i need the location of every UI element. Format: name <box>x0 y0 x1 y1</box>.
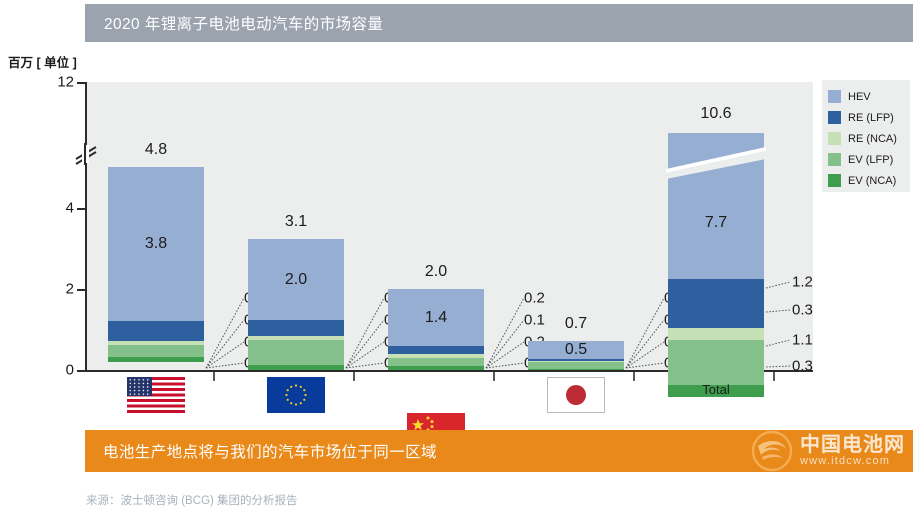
bar-eu-segment-ev-lfp <box>248 340 344 365</box>
us-flag-icon <box>127 377 185 413</box>
chart-page: 2020 年锂离子电池电动汽车的市场容量 百万 [ 单位 ] 12 4 2 0 <box>0 0 913 516</box>
bar-japan-segment-hev: 0.5 <box>528 341 624 359</box>
bar-total-segment-hev: 7.7 <box>668 133 764 279</box>
bar-eu-segment-hev: 2.0 <box>248 239 344 320</box>
legend-swatch-re-lfp-icon <box>828 111 841 124</box>
bar-total-segment-re-lfp <box>668 279 764 328</box>
y-tick-label-0: 0 <box>34 362 74 379</box>
bar-japan-segment-ev-lfp <box>528 362 624 369</box>
legend-swatch-re-nca-icon <box>828 132 841 145</box>
bar-china-callout-re-lfp: 0.2 <box>524 291 545 306</box>
legend: HEV RE (LFP) RE (NCA) EV (LFP) EV (NCA) <box>822 80 910 192</box>
bar-japan[interactable]: 0.7 0.5 <box>528 341 624 370</box>
header-bar: 2020 年锂离子电池电动汽车的市场容量 <box>85 4 913 42</box>
watermark-title: 中国电池网 <box>800 435 905 456</box>
bar-china-segment-re-lfp <box>388 346 484 354</box>
legend-item-re-lfp[interactable]: RE (LFP) <box>828 107 910 128</box>
x-tick-1 <box>213 372 215 381</box>
bar-eu-segment-re-lfp <box>248 320 344 336</box>
legend-swatch-hev-icon <box>828 90 841 103</box>
watermark: 中国电池网 www.itdcw.com <box>750 430 905 472</box>
x-tick-4 <box>633 372 635 381</box>
bar-total-segment-ev-lfp <box>668 340 764 385</box>
legend-label-re-nca: RE (NCA) <box>848 133 897 145</box>
bar-us-total-label: 4.8 <box>108 141 204 159</box>
bar-total-segment-re-nca <box>668 328 764 340</box>
bar-total-hev-label: 7.7 <box>668 214 764 232</box>
page-title: 2020 年锂离子电池电动汽车的市场容量 <box>85 12 383 34</box>
bar-eu-segment-ev-nca <box>248 365 344 370</box>
bar-china-segment-ev-lfp <box>388 358 484 366</box>
axis-category-total: Total <box>661 382 771 397</box>
legend-label-ev-lfp: EV (LFP) <box>848 154 893 166</box>
bar-us[interactable]: 4.8 3.8 <box>108 167 204 370</box>
legend-item-hev[interactable]: HEV <box>828 86 910 107</box>
bar-eu-hev-label: 2.0 <box>248 271 344 289</box>
bar-eu[interactable]: 3.1 2.0 <box>248 239 344 370</box>
watermark-url: www.itdcw.com <box>800 456 905 468</box>
bar-us-hev-label: 3.8 <box>108 235 204 253</box>
bar-japan-segment-ev-nca <box>528 369 624 370</box>
bar-total-callout-ev-lfp: 1.1 <box>792 333 813 348</box>
callout-banner: 电池生产地点将与我们的汽车市场位于同一区域 中国电池网 www.itdcw.co… <box>85 430 913 472</box>
source-note: 来源：波士顿咨询 (BCG) 集团的分析报告 <box>86 492 297 508</box>
legend-item-re-nca[interactable]: RE (NCA) <box>828 128 910 149</box>
bar-japan-hev-label: 0.5 <box>528 341 624 359</box>
bar-us-segment-re-lfp <box>108 321 204 341</box>
bar-total[interactable]: 10.6 7.7 <box>668 133 764 370</box>
y-tick-label-4: 4 <box>34 200 74 217</box>
bar-china-total-label: 2.0 <box>388 263 484 281</box>
legend-item-ev-nca[interactable]: EV (NCA) <box>828 170 910 191</box>
y-tick-label-2: 2 <box>34 281 74 298</box>
legend-item-ev-lfp[interactable]: EV (LFP) <box>828 149 910 170</box>
legend-label-ev-nca: EV (NCA) <box>848 175 896 187</box>
legend-swatch-ev-nca-icon <box>828 174 841 187</box>
bar-china-segment-ev-nca <box>388 366 484 370</box>
y-axis-unit-label: 百万 [ 单位 ] <box>8 52 77 71</box>
x-tick-5 <box>773 372 775 381</box>
x-tick-3 <box>493 372 495 381</box>
legend-label-re-lfp: RE (LFP) <box>848 112 894 124</box>
callout-banner-text: 电池生产地点将与我们的汽车市场位于同一区域 <box>85 440 437 462</box>
y-tick-2 <box>77 289 86 291</box>
bar-us-segment-ev-lfp <box>108 345 204 357</box>
y-tick-4 <box>77 208 86 210</box>
y-axis-line <box>85 82 87 370</box>
legend-label-hev: HEV <box>848 91 871 103</box>
bar-japan-total-label: 0.7 <box>528 315 624 333</box>
japan-flag-icon <box>547 377 605 413</box>
bar-eu-total-label: 3.1 <box>248 213 344 231</box>
eu-flag-icon <box>267 377 325 413</box>
bar-us-segment-hev: 3.8 <box>108 167 204 321</box>
y-tick-label-12: 12 <box>34 74 74 91</box>
bar-total-total-label: 10.6 <box>668 105 764 123</box>
y-tick-12 <box>77 82 86 84</box>
bar-total-callout-ev-nca: 0.3 <box>792 359 813 374</box>
legend-swatch-ev-lfp-icon <box>828 153 841 166</box>
bar-china-hev-label: 1.4 <box>388 309 484 327</box>
bar-us-segment-ev-nca <box>108 357 204 362</box>
y-axis-break-marker <box>74 143 98 165</box>
globe-swoosh-icon <box>750 430 794 472</box>
bar-total-callout-re-lfp: 1.2 <box>792 275 813 290</box>
bar-china[interactable]: 2.0 1.4 <box>388 289 484 370</box>
bar-total-callout-re-nca: 0.3 <box>792 303 813 318</box>
x-tick-2 <box>353 372 355 381</box>
bar-china-segment-hev: 1.4 <box>388 289 484 346</box>
